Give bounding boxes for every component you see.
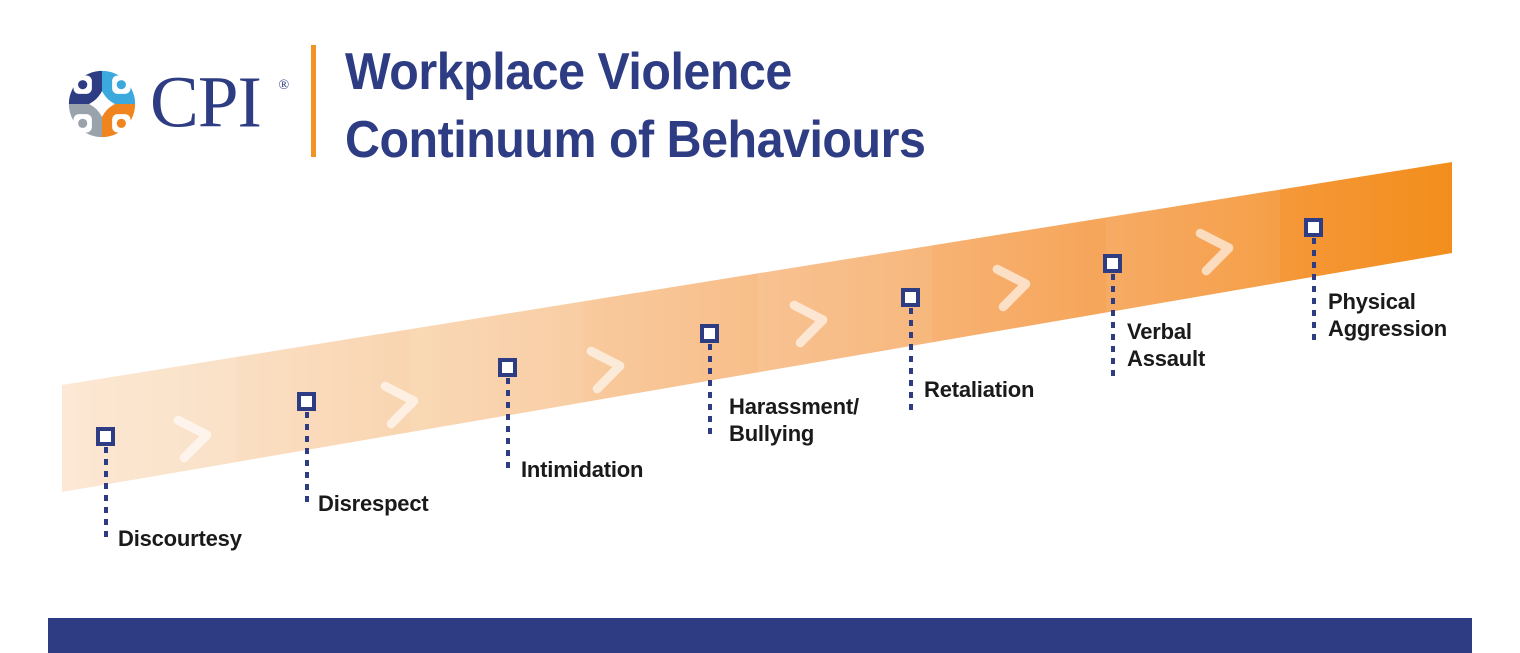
footer-bar <box>48 618 1472 653</box>
stage-leader-line <box>1312 238 1316 346</box>
stage-leader-line <box>708 344 712 438</box>
stage-marker-square-icon <box>1103 254 1122 273</box>
stage-label-6: Verbal Assault <box>1127 318 1205 372</box>
infographic-canvas: CPI ® Workplace Violence Continuum of Be… <box>0 0 1520 653</box>
stage-leader-line <box>104 447 108 541</box>
stage-marker-square-icon <box>1304 218 1323 237</box>
title-divider <box>311 45 316 157</box>
stage-leader-line <box>506 378 510 474</box>
stage-label-1: Discourtesy <box>118 525 242 552</box>
stage-leader-line <box>305 412 309 508</box>
stage-label-4: Harassment/ Bullying <box>729 393 859 447</box>
stage-label-5: Retaliation <box>924 376 1034 403</box>
stage-label-3: Intimidation <box>521 456 643 483</box>
svg-text:®: ® <box>278 77 289 93</box>
header: CPI ® Workplace Violence Continuum of Be… <box>0 0 1520 170</box>
stage-leader-line <box>909 308 913 414</box>
cpi-wordmark: CPI ® <box>150 62 300 148</box>
stage-leader-line <box>1111 274 1115 378</box>
stage-marker-square-icon <box>297 392 316 411</box>
stage-marker-square-icon <box>96 427 115 446</box>
stage-marker-square-icon <box>700 324 719 343</box>
stage-label-7: Physical Aggression <box>1328 288 1447 342</box>
stage-marker-square-icon <box>901 288 920 307</box>
cpi-logo-icon <box>56 58 148 150</box>
title-line-1: Workplace Violence <box>345 38 1182 106</box>
stage-marker-square-icon <box>498 358 517 377</box>
title-line-2: Continuum of Behaviours <box>345 106 1182 174</box>
stage-label-2: Disrespect <box>318 490 429 517</box>
svg-text:CPI: CPI <box>150 62 261 143</box>
page-title: Workplace Violence Continuum of Behaviou… <box>345 38 1245 174</box>
